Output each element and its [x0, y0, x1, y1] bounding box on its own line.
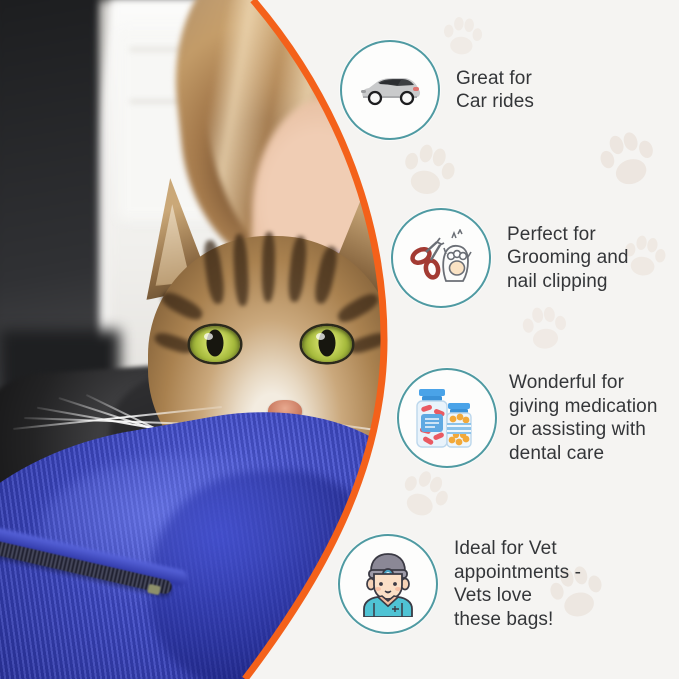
feature-label: Wonderful for giving medication or assis…	[509, 371, 658, 465]
feature-label: Perfect for Grooming and nail clipping	[507, 223, 629, 294]
feature-row-medication: Wonderful for giving medication or assis…	[397, 368, 658, 468]
cat-eye-left	[190, 326, 240, 362]
medicine-bottles-icon	[397, 368, 497, 468]
paw-print-watermark	[517, 300, 570, 356]
feature-row-car-rides: Great for Car rides	[340, 40, 534, 140]
feature-label: Great for Car rides	[456, 67, 534, 114]
nail-clippers-paw-icon	[391, 208, 491, 308]
veterinarian-icon	[338, 534, 438, 634]
product-feature-infographic: Great for Car rides	[0, 0, 679, 679]
car-icon	[340, 40, 440, 140]
feature-row-grooming: Perfect for Grooming and nail clipping	[391, 208, 629, 308]
feature-row-vet-appointments: Ideal for Vet appointments - Vets love t…	[338, 534, 581, 634]
feature-label: Ideal for Vet appointments - Vets love t…	[454, 537, 581, 631]
cat-eye-right	[302, 326, 352, 362]
